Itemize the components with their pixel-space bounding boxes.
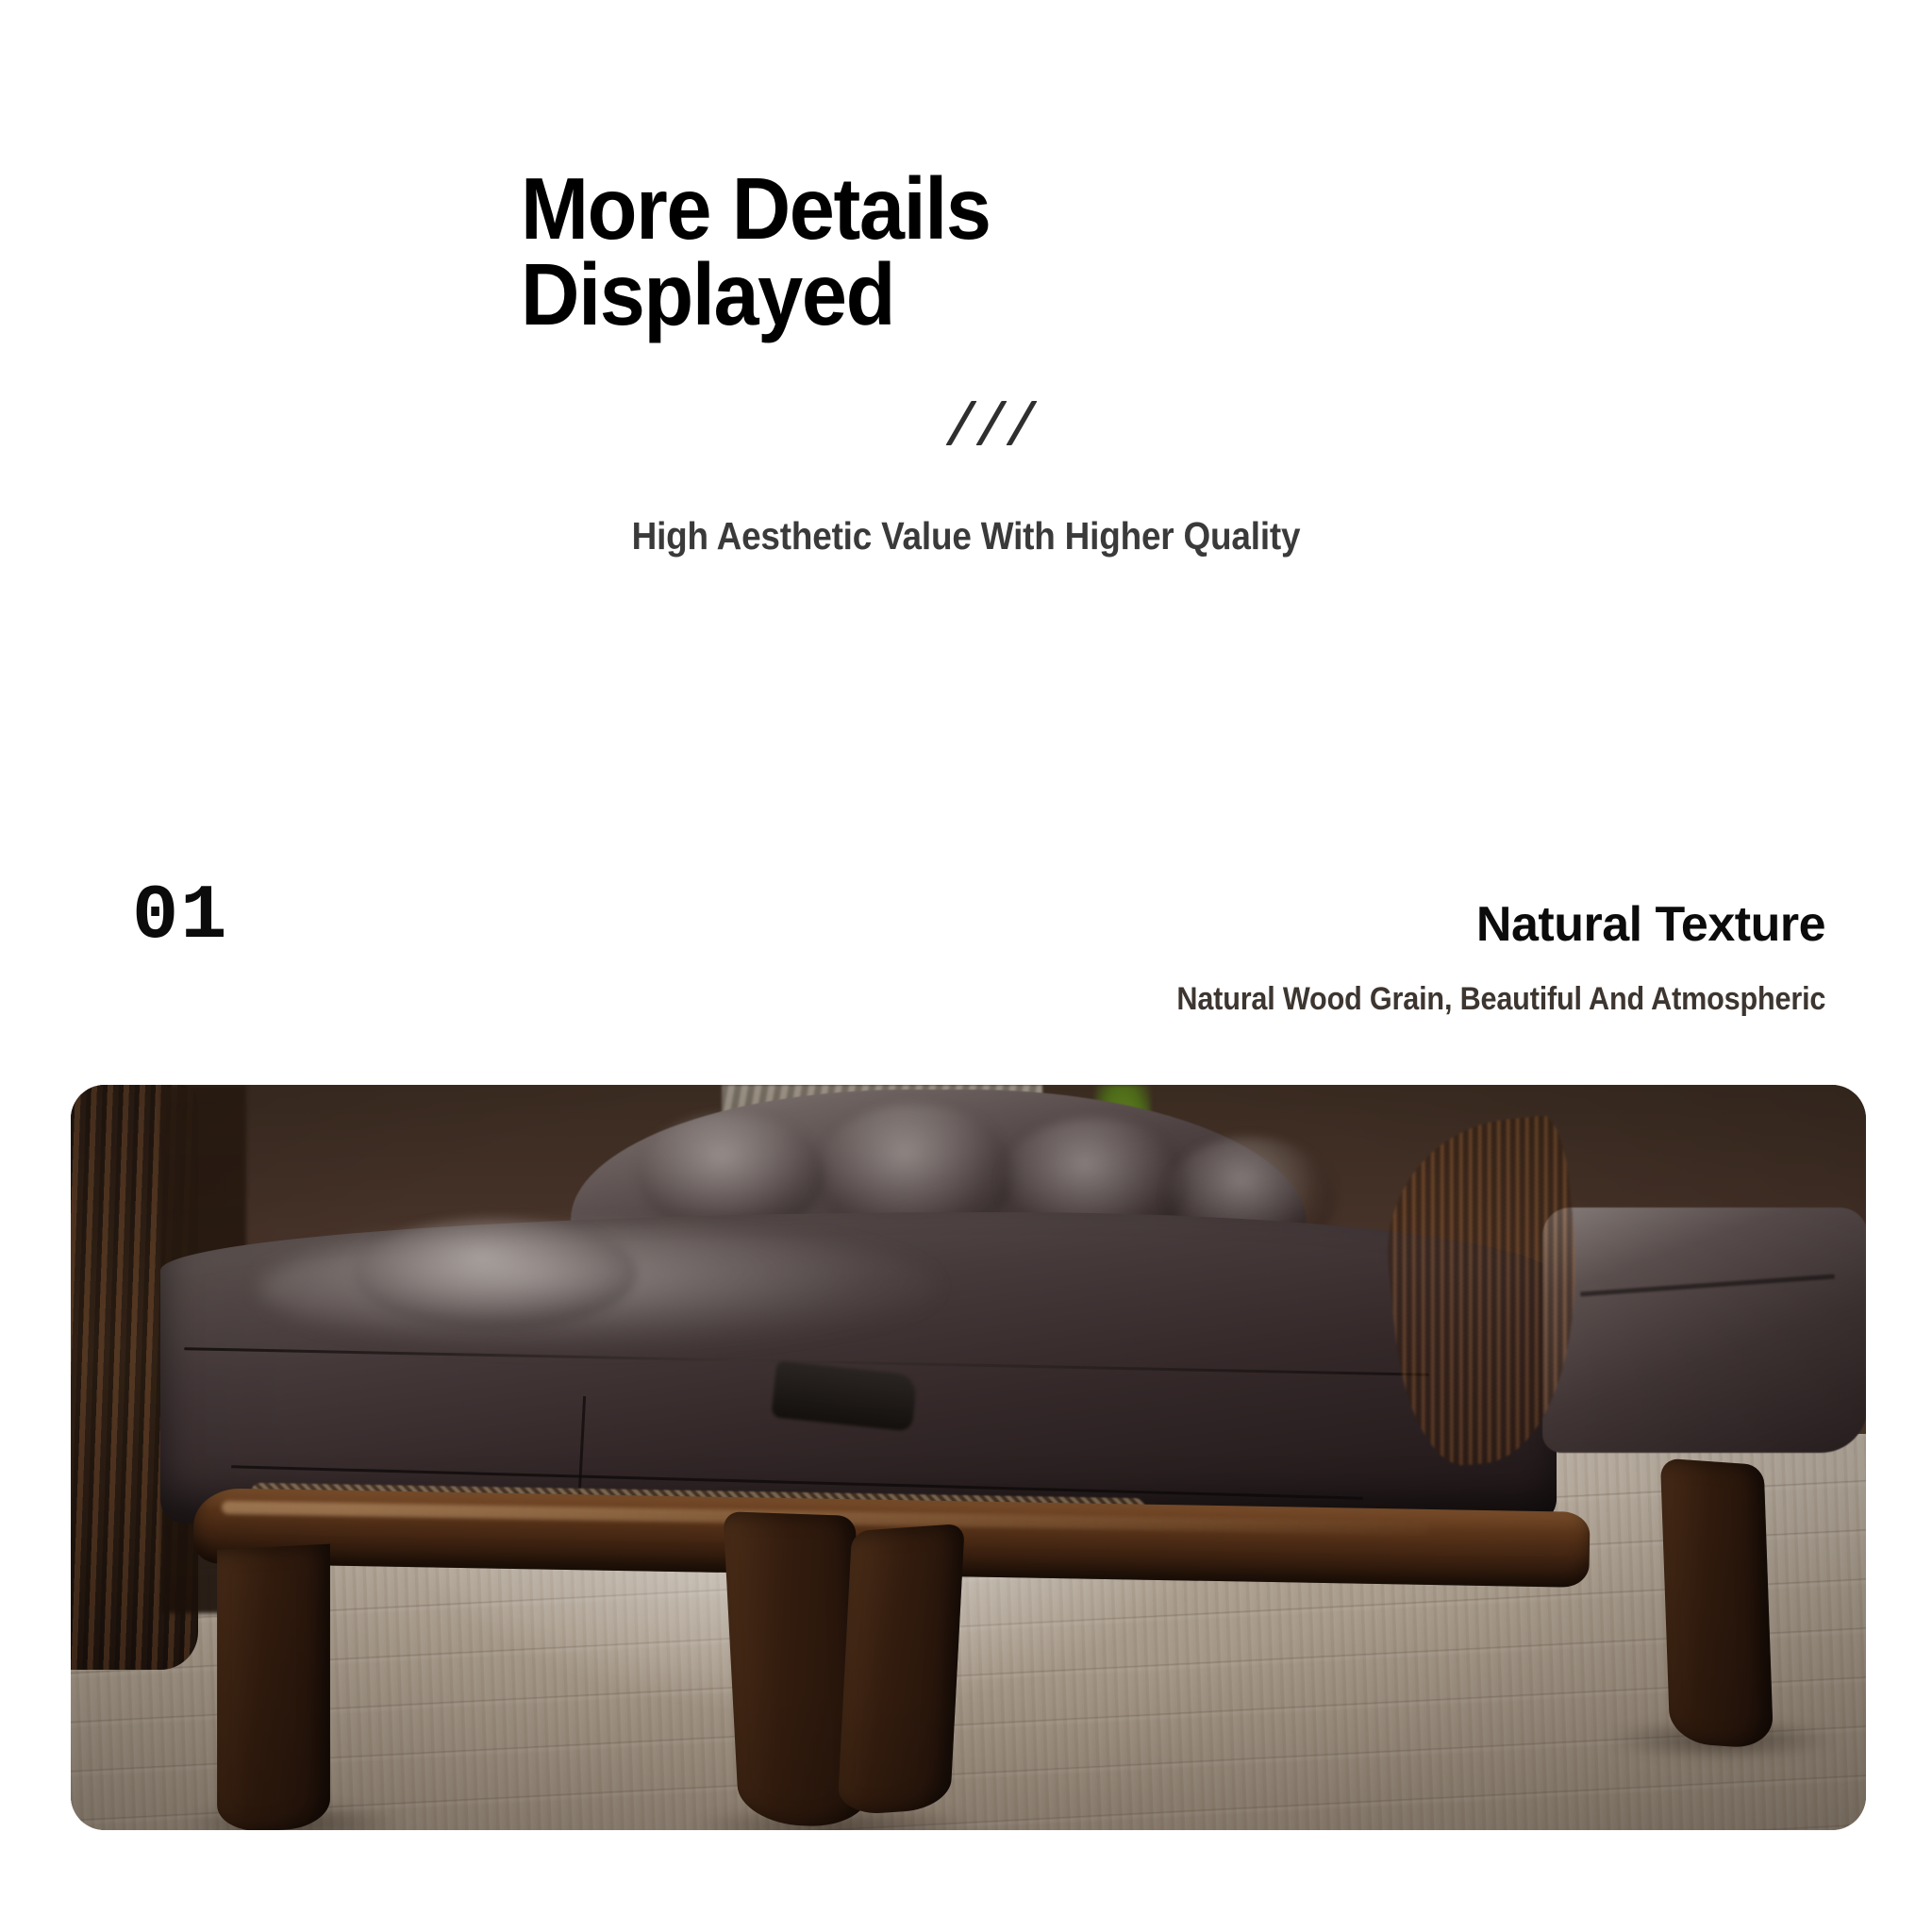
slash-stroke-3 (1006, 401, 1037, 445)
slash-stroke-2 (975, 401, 1007, 445)
photo-wood-leg (1660, 1457, 1774, 1749)
tagline: High Aesthetic Value With Higher Quality (96, 514, 1835, 558)
photo-wood-leg (837, 1524, 965, 1816)
section-caption: Natural Wood Grain, Beautiful And Atmosp… (1176, 981, 1825, 1018)
photo-wood-leg (217, 1544, 330, 1830)
section-title: Natural Texture (1476, 896, 1825, 953)
product-photo (71, 1085, 1866, 1830)
photo-cushion-tuft (354, 1217, 637, 1330)
triple-slash-icon (943, 401, 1066, 448)
section-number: 01 (132, 873, 228, 960)
page-title: More Details Displayed (521, 166, 1310, 338)
slash-stroke-1 (945, 401, 976, 445)
